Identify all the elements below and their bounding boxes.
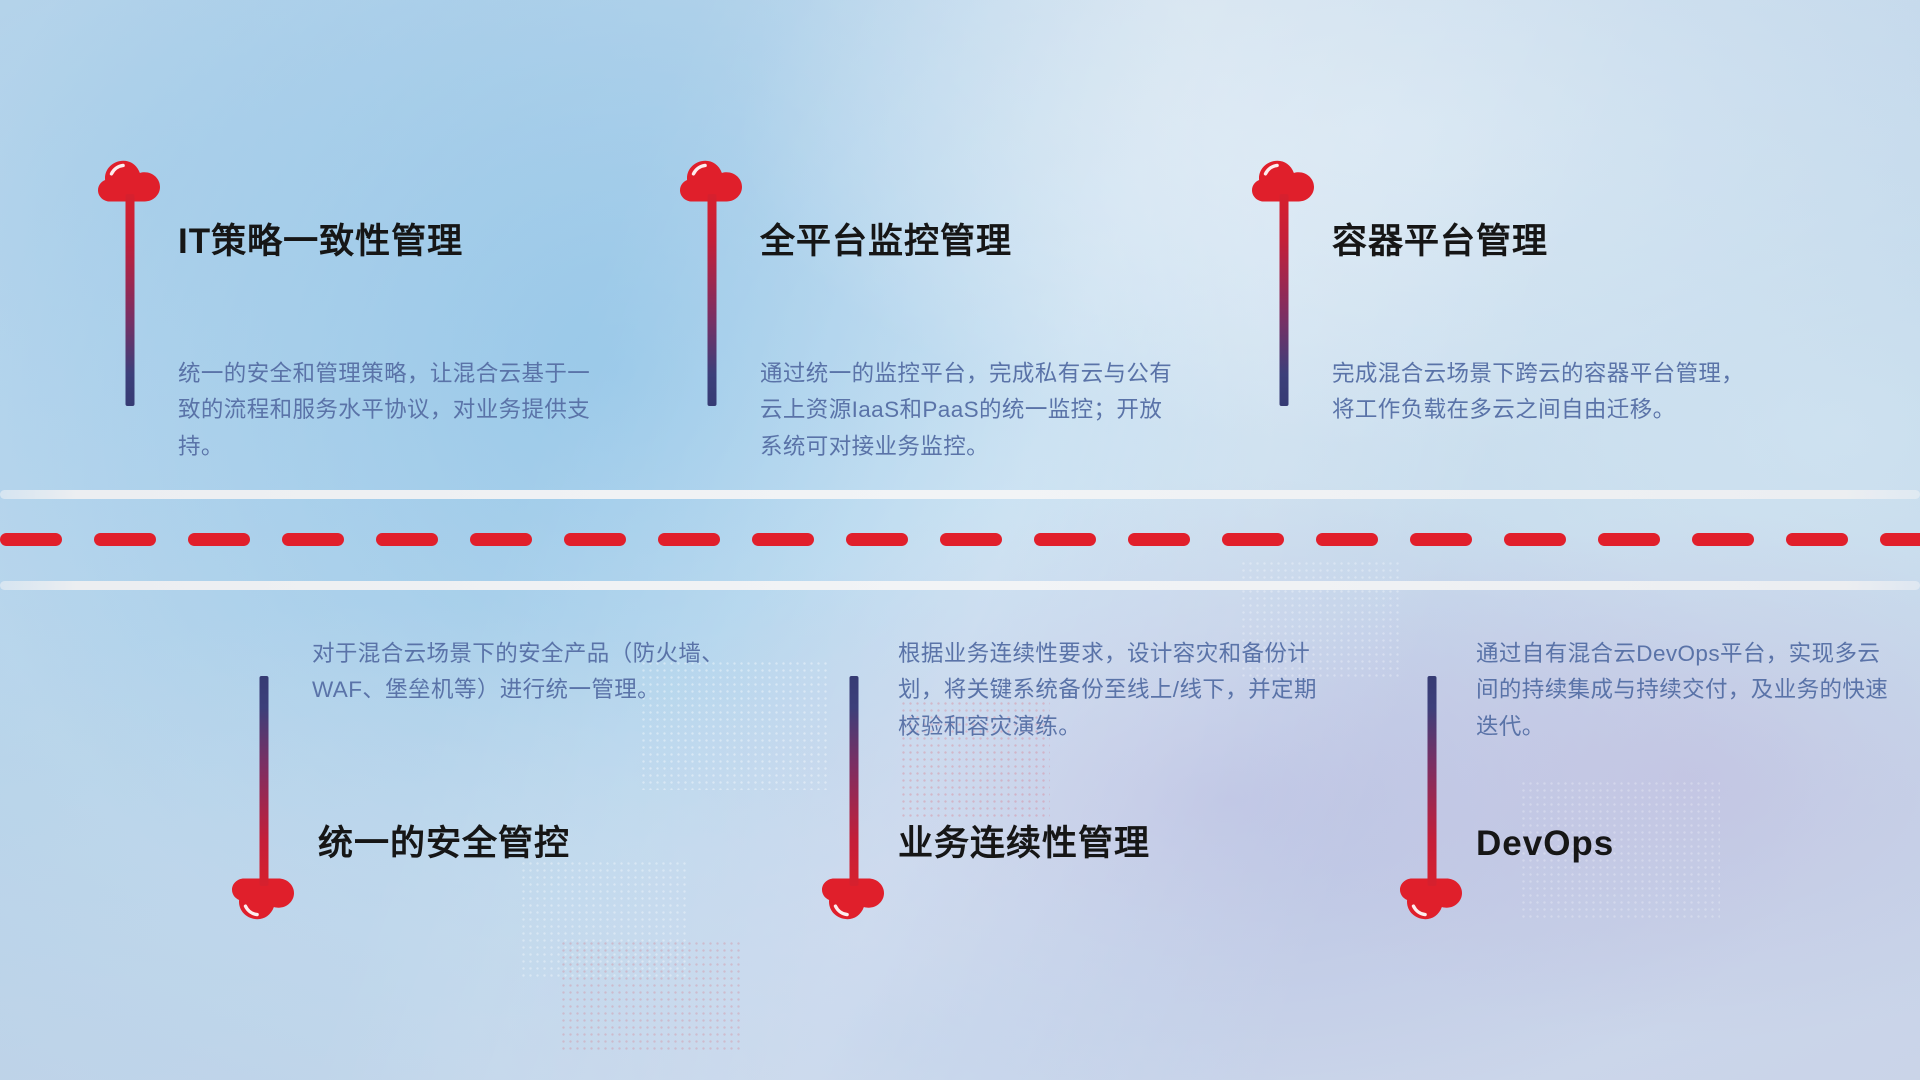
road-dash-line [0, 532, 1920, 546]
pin-stem [1280, 194, 1289, 406]
road-dash-segment [470, 533, 532, 546]
road-dash-segment [1692, 533, 1754, 546]
card-title: 容器平台管理 [1332, 224, 1548, 259]
road-dash-segment [0, 533, 62, 546]
pin-stem [260, 676, 269, 886]
road-dash-segment [1504, 533, 1566, 546]
road-dash-segment [188, 533, 250, 546]
card-body: 统一的安全和管理策略，让混合云基于一致的流程和服务水平协议，对业务提供支持。 [178, 356, 602, 465]
card-body: 通过统一的监控平台，完成私有云与公有云上资源IaaS和PaaS的统一监控；开放系… [760, 356, 1184, 465]
road-dash-segment [1598, 533, 1660, 546]
road-dash-segment [1880, 533, 1920, 546]
road-divider [0, 490, 1920, 590]
road-dash-segment [1410, 533, 1472, 546]
road-dash-segment [846, 533, 908, 546]
pin-stem [708, 194, 717, 406]
cloud-pin-devops [1400, 620, 1464, 920]
road-dash-segment [1222, 533, 1284, 546]
pin-stem [1428, 676, 1437, 886]
card-body: 完成混合云场景下跨云的容器平台管理，将工作负载在多云之间自由迁移。 [1332, 356, 1756, 429]
road-edge-bottom [0, 581, 1920, 590]
road-dash-segment [282, 533, 344, 546]
road-edge-top [0, 490, 1920, 499]
card-title: 全平台监控管理 [760, 224, 1012, 259]
road-dash-segment [94, 533, 156, 546]
cloud-pin-business-continuity [822, 620, 886, 920]
card-body: 通过自有混合云DevOps平台，实现多云间的持续集成与持续交付，及业务的快速迭代… [1476, 636, 1900, 745]
road-dash-segment [1786, 533, 1848, 546]
road-dash-segment [1128, 533, 1190, 546]
card-title: 业务连续性管理 [898, 826, 1150, 861]
card-title: DevOps [1476, 826, 1614, 861]
road-dash-segment [752, 533, 814, 546]
card-body: 对于混合云场景下的安全产品（防火墙、WAF、堡垒机等）进行统一管理。 [312, 636, 736, 709]
road-dash-segment [376, 533, 438, 546]
road-dash-segment [940, 533, 1002, 546]
card-title: IT策略一致性管理 [178, 224, 463, 259]
pin-stem [126, 194, 135, 406]
card-body: 根据业务连续性要求，设计容灾和备份计划，将关键系统备份至线上/线下，并定期校验和… [898, 636, 1322, 745]
pin-stem [850, 676, 859, 886]
texture-dots-red-bottom [560, 940, 740, 1050]
card-title: 统一的安全管控 [318, 826, 570, 861]
cloud-pin-unified-security [232, 620, 296, 920]
road-dash-segment [1316, 533, 1378, 546]
road-dash-segment [1034, 533, 1096, 546]
road-dash-segment [658, 533, 720, 546]
road-dash-segment [564, 533, 626, 546]
